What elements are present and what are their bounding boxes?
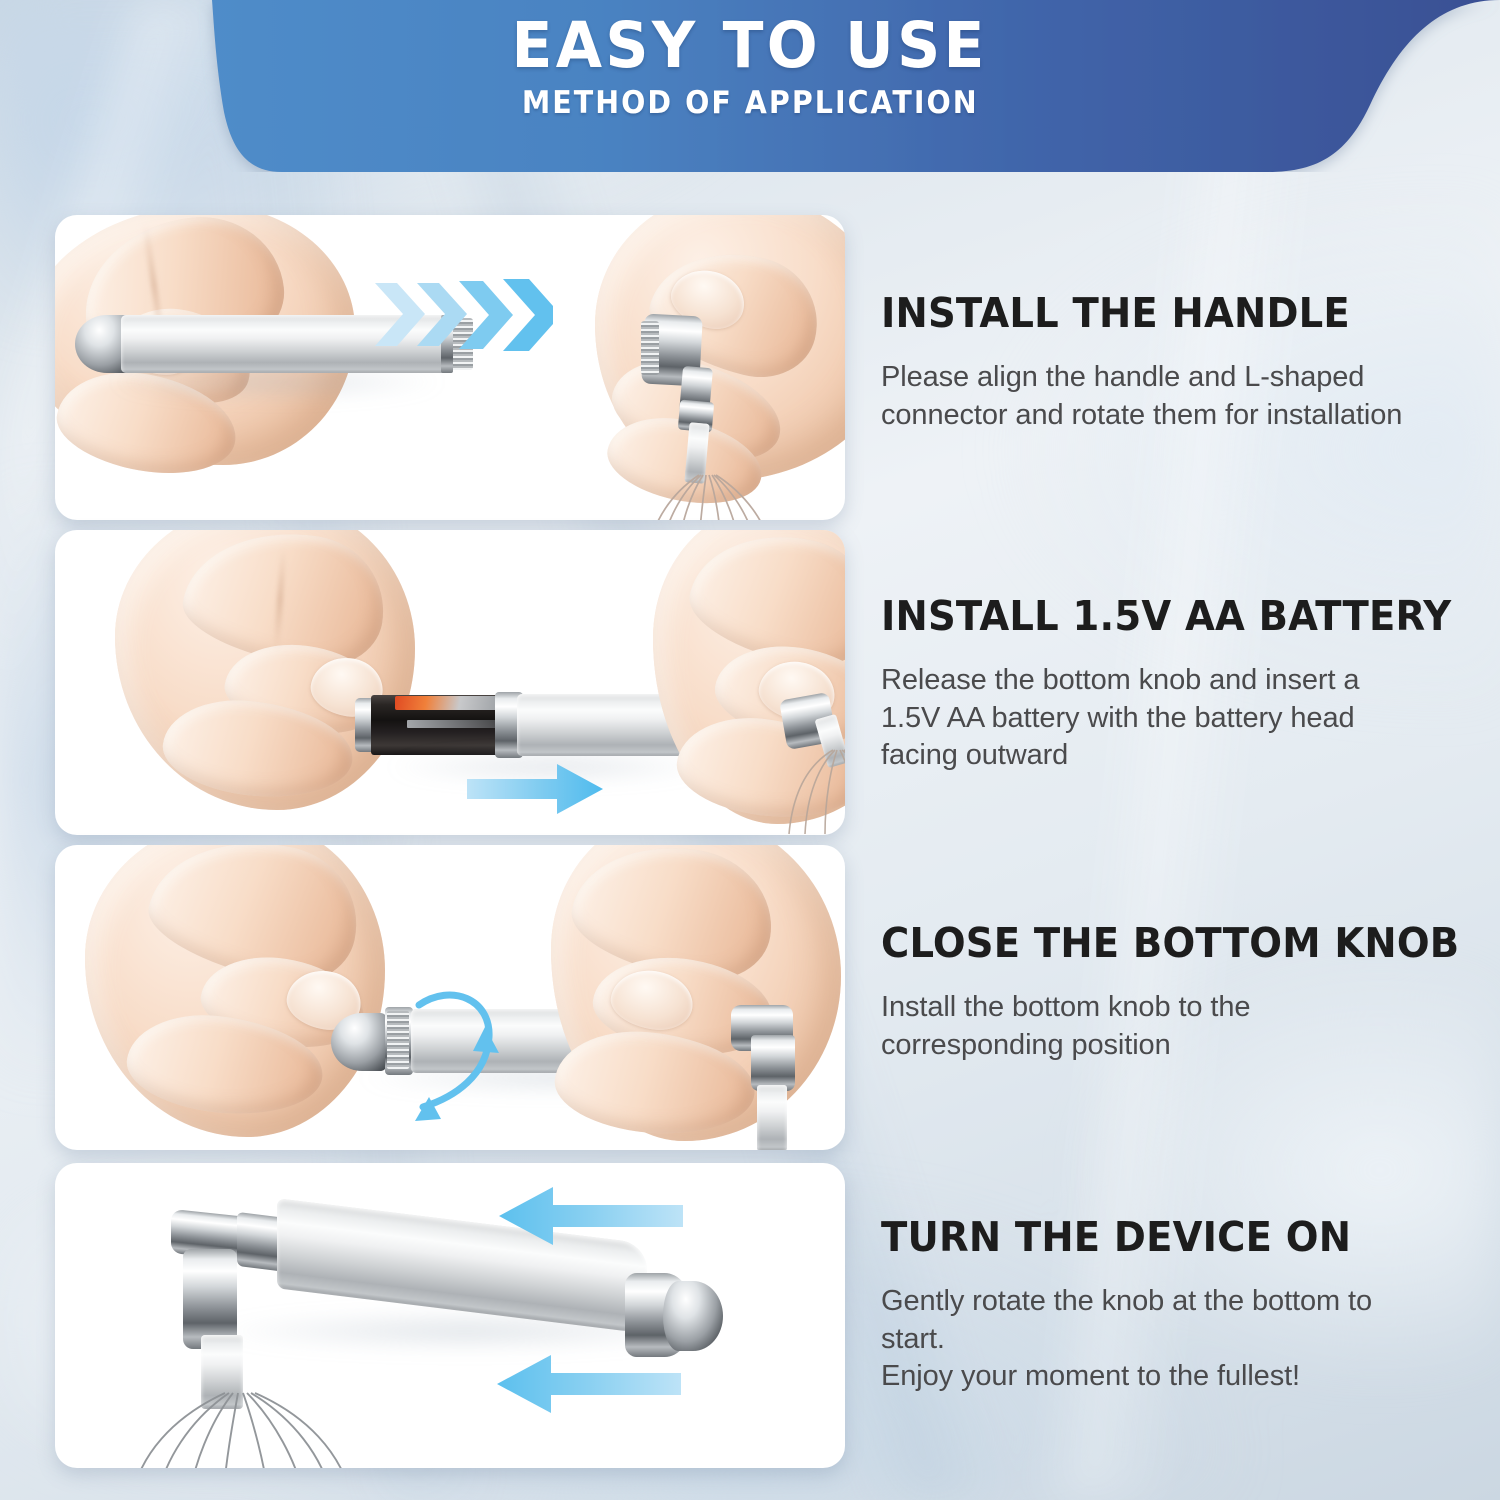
step-3-text: CLOSE THE BOTTOM KNOB Install the bottom…: [881, 845, 1500, 1064]
step-1-scene: [55, 215, 845, 520]
step-row-2: INSTALL 1.5V AA BATTERY Release the bott…: [55, 530, 1500, 835]
step-4-text: TURN THE DEVICE ON Gently rotate the kno…: [881, 1163, 1500, 1396]
step-row-3: CLOSE THE BOTTOM KNOB Install the bottom…: [55, 845, 1500, 1150]
step-4-scene: [55, 1163, 845, 1468]
step-3-body-line-1: Install the bottom knob to the: [881, 989, 1500, 1027]
step-row-4: TURN THE DEVICE ON Gently rotate the kno…: [55, 1163, 1500, 1468]
step-4-body-line-2: start.: [881, 1321, 1500, 1359]
step-2-body-line-2: 1.5V AA battery with the battery head: [881, 700, 1500, 738]
arrow-right-icon: [465, 762, 605, 816]
bottom-knob: [331, 1013, 393, 1071]
step-1-title: INSTALL THE HANDLE: [881, 289, 1464, 337]
whisk-head: [629, 473, 789, 520]
step-4-body-line-3: Enjoy your moment to the fullest!: [881, 1358, 1500, 1396]
step-2-title: INSTALL 1.5V AA BATTERY: [881, 592, 1464, 640]
step-3-photo: [55, 845, 845, 1150]
rotate-circular-icon: [395, 975, 505, 1135]
step-2-scene: [55, 530, 845, 835]
step-row-1: INSTALL THE HANDLE Please align the hand…: [55, 215, 1500, 520]
l-connector-thread: [641, 321, 659, 375]
device-end-dome: [663, 1281, 723, 1351]
whisk-shaft: [757, 1085, 787, 1150]
whisk-head: [779, 748, 845, 834]
battery-label-stripe: [395, 696, 499, 710]
step-2-photo: [55, 530, 845, 835]
header-title: EASY TO USE: [512, 13, 988, 79]
step-3-scene: [55, 845, 845, 1150]
step-2-body: Release the bottom knob and insert a 1.5…: [881, 662, 1500, 775]
l-connector-vertical: [751, 1035, 795, 1091]
step-4-body: Gently rotate the knob at the bottom to …: [881, 1283, 1500, 1396]
l-neck-vertical: [183, 1249, 237, 1349]
step-1-body-line-2: connector and rotate them for installati…: [881, 397, 1500, 435]
whisk-head: [125, 1391, 375, 1468]
step-2-body-line-3: facing outward: [881, 737, 1500, 775]
chevron-right-quad-icon: [373, 277, 553, 352]
battery-text-band: [407, 720, 499, 728]
step-4-photo: [55, 1163, 845, 1468]
arrow-left-icon-top: [495, 1185, 685, 1247]
step-1-body: Please align the handle and L-shaped con…: [881, 359, 1500, 434]
step-2-text: INSTALL 1.5V AA BATTERY Release the bott…: [881, 530, 1500, 775]
step-4-title: TURN THE DEVICE ON: [881, 1213, 1464, 1261]
step-3-body: Install the bottom knob to the correspon…: [881, 989, 1500, 1064]
step-1-photo: [55, 215, 845, 520]
step-2-body-line-1: Release the bottom knob and insert a: [881, 662, 1500, 700]
step-1-text: INSTALL THE HANDLE Please align the hand…: [881, 215, 1500, 434]
step-3-title: CLOSE THE BOTTOM KNOB: [881, 919, 1464, 967]
step-1-body-line-1: Please align the handle and L-shaped: [881, 359, 1500, 397]
step-3-body-line-2: corresponding position: [881, 1027, 1500, 1065]
arrow-left-icon-bottom: [493, 1353, 683, 1415]
header-subtitle: METHOD OF APPLICATION: [522, 85, 979, 121]
step-4-body-line-1: Gently rotate the knob at the bottom to: [881, 1283, 1500, 1321]
header-banner: EASY TO USE METHOD OF APPLICATION: [0, 0, 1500, 172]
